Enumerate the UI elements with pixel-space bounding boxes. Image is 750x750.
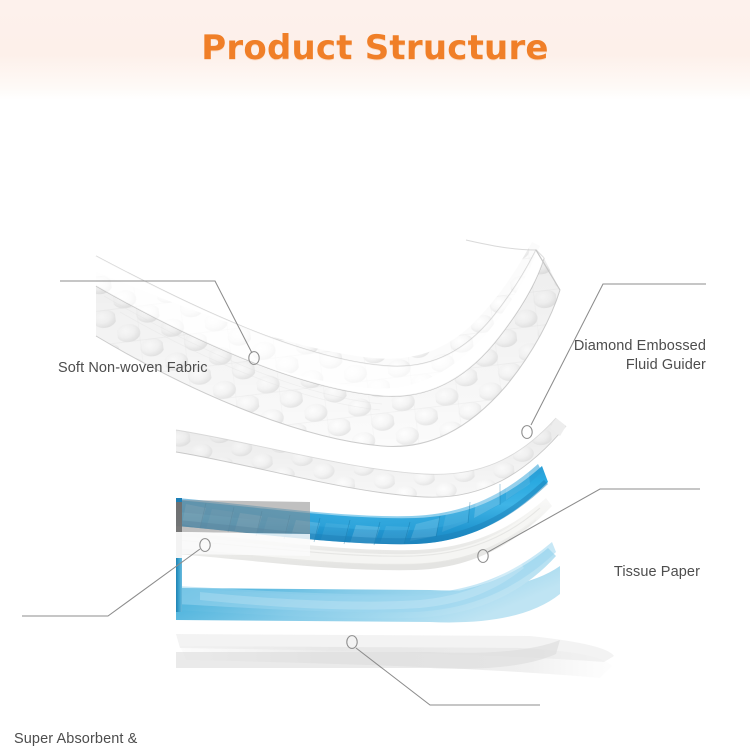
callout-diamond-embossed-line2: Fluid Guider [0,356,706,375]
callout-label-tissue-paper: Tissue Paper [0,563,700,582]
callout-tissue-paper-line1: Tissue Paper [0,563,700,582]
layered-product-diagram [0,100,750,750]
callout-label-super-absorbent: Super Absorbent & Gel Forming Polymers [14,730,160,750]
callout-dot-diamond-embossed [522,426,532,439]
callout-label-diamond-embossed: Diamond Embossed Fluid Guider [0,337,706,375]
diagram-stage: Soft Non-woven Fabric Diamond Embossed F… [0,100,750,750]
page-title: Product Structure [0,28,750,68]
callout-super-absorbent-line1: Super Absorbent & [14,730,160,749]
callout-diamond-embossed-line1: Diamond Embossed [0,337,706,356]
product-structure-page: Product Structure [0,0,750,750]
leader-super-absorbent [22,549,200,616]
